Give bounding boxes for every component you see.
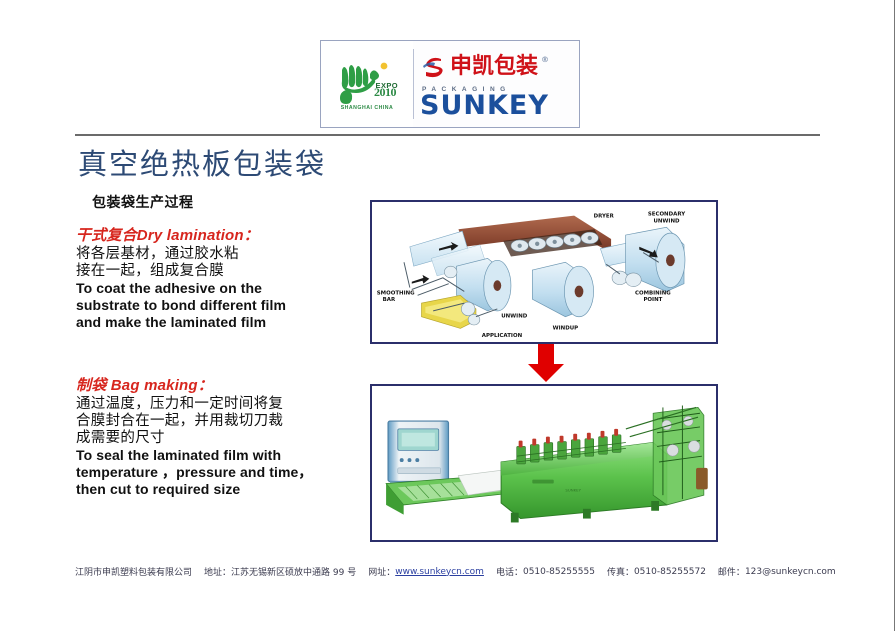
label-smoothing-bar: SMOOTHING bbox=[377, 290, 415, 296]
footer-address: 江苏无锡新区硕放中通路 99 号 bbox=[231, 565, 356, 578]
label-unwind: UNWIND bbox=[501, 314, 528, 320]
block-english-line: and make the laminated film bbox=[76, 314, 286, 331]
svg-text:SUNKEY: SUNKEY bbox=[565, 487, 581, 492]
title-divider bbox=[75, 134, 820, 136]
label-secondary-unwind: SECONDARY bbox=[648, 212, 685, 218]
block-chinese-line: 接在一起，组成复合膜 bbox=[76, 263, 286, 280]
block-chinese-line: 将各层基材，通过胶水粘 bbox=[76, 246, 286, 263]
svg-text:BAR: BAR bbox=[383, 297, 396, 303]
text-block-bag-making: 制袋 Bag making： 通过温度，压力和一定时间将复 合膜封合在一起，并用… bbox=[76, 374, 313, 499]
block-chinese-line: 通过温度，压力和一定时间将复 bbox=[76, 396, 313, 413]
svg-text:POINT: POINT bbox=[643, 297, 662, 303]
sunkey-chinese-name: 申凯包装® bbox=[450, 56, 549, 78]
dry-lamination-process-diagram: DRYER SECONDARY UNWIND SMOOTHING BAR UNW… bbox=[370, 200, 718, 344]
footer-mail: 123@sunkeycn.com bbox=[745, 567, 836, 577]
expo-logo: EXPO 2010 SHANGHAI CHINA bbox=[321, 41, 413, 127]
text-block-dry-lamination: 干式复合Dry lamination： 将各层基材，通过胶水粘 接在一起，组成复… bbox=[76, 224, 286, 331]
footer-web-link[interactable]: www.sunkeycn.com bbox=[395, 567, 484, 577]
block-english-line: then cut to required size bbox=[76, 481, 313, 498]
label-dryer: DRYER bbox=[594, 214, 615, 220]
page-subtitle: 包装袋生产过程 bbox=[92, 192, 194, 212]
footer-company: 江阴市申凯塑料包装有限公司 bbox=[75, 565, 192, 578]
expo-city-label: SHANGHAI CHINA bbox=[341, 105, 394, 111]
registered-mark-icon: ® bbox=[541, 55, 549, 64]
footer: 江阴市申凯塑料包装有限公司 地址： 江苏无锡新区硕放中通路 99 号 网址： w… bbox=[75, 565, 874, 578]
expo-year-label: 2010 bbox=[374, 85, 396, 100]
header-logo-band: EXPO 2010 SHANGHAI CHINA 申凯包装® PACKAGING… bbox=[320, 40, 580, 128]
sunkey-chinese-text: 申凯包装 bbox=[450, 54, 538, 79]
sunkey-s-mark-icon bbox=[420, 54, 446, 80]
block-heading: 干式复合Dry lamination： bbox=[76, 224, 286, 245]
block-english-line: To coat the adhesive on the bbox=[76, 280, 286, 297]
block-chinese-line: 合膜封合在一起，并用裁切刀裁 bbox=[76, 413, 313, 430]
bag-making-machine-photo: SUNKEY bbox=[370, 384, 718, 542]
svg-text:UNWIND: UNWIND bbox=[653, 218, 680, 224]
footer-mail-label: 邮件： bbox=[718, 565, 745, 578]
block-english-line: temperature ，pressure and time， bbox=[76, 464, 313, 481]
sunkey-brand-name: SUNKEY bbox=[420, 93, 579, 119]
footer-fax: 0510-85255572 bbox=[634, 567, 706, 577]
label-windup: WINDUP bbox=[553, 325, 579, 331]
label-application: APPLICATION bbox=[482, 333, 523, 339]
block-english-line: substrate to bond different film bbox=[76, 297, 286, 314]
down-arrow-icon bbox=[520, 344, 580, 384]
block-english-line: To seal the laminated film with bbox=[76, 447, 313, 464]
footer-web-label: 网址： bbox=[368, 565, 395, 578]
expo-2010-mascot-icon: EXPO 2010 bbox=[334, 60, 400, 104]
block-heading: 制袋 Bag making： bbox=[76, 374, 313, 395]
page-title: 真空绝热板包装袋 bbox=[78, 141, 326, 183]
slide-page: EXPO 2010 SHANGHAI CHINA 申凯包装® PACKAGING… bbox=[0, 0, 895, 631]
label-combining-point: COMBINING bbox=[635, 290, 671, 296]
footer-tel-label: 电话： bbox=[496, 565, 523, 578]
block-chinese-line: 成需要的尺寸 bbox=[76, 430, 313, 447]
footer-tel: 0510-85255555 bbox=[523, 567, 595, 577]
sunkey-logo: 申凯包装® PACKAGING SUNKEY bbox=[414, 41, 579, 127]
footer-fax-label: 传真： bbox=[607, 565, 634, 578]
footer-address-label: 地址： bbox=[204, 565, 231, 578]
